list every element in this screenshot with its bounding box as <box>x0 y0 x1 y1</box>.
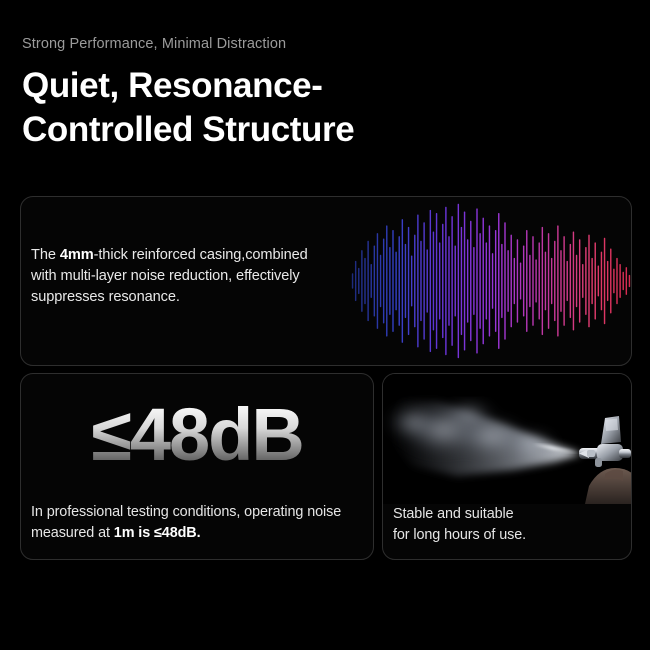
decibel-caption: In professional testing conditions, oper… <box>31 502 365 544</box>
page-title-line-1: Quiet, Resonance- <box>22 66 323 105</box>
promo-page: Strong Performance, Minimal Distraction … <box>0 0 650 650</box>
card-spray: Stable and suitable for long hours of us… <box>382 373 632 560</box>
page-title: Quiet, Resonance- Controlled Structure <box>22 64 622 152</box>
resonance-description: The 4mm-thick reinforced casing,combined… <box>31 245 321 308</box>
description-bold: 4mm <box>60 247 94 263</box>
decibel-value-graphic: ≤48dB <box>21 388 373 488</box>
eyebrow-text: Strong Performance, Minimal Distraction <box>22 36 622 53</box>
page-title-line-2: Controlled Structure <box>22 108 622 152</box>
airbrush-spray-icon <box>383 374 631 504</box>
spray-caption-line-1: Stable and suitable <box>393 504 623 525</box>
spray-caption-line-2: for long hours of use. <box>393 525 623 546</box>
card-resonance: The 4mm-thick reinforced casing,combined… <box>20 196 632 366</box>
card-decibel: ≤48dB In professional testing conditions… <box>20 373 374 560</box>
svg-text:≤48dB: ≤48dB <box>91 394 303 476</box>
description-prefix: The <box>31 247 60 263</box>
decibel-caption-bold: 1m is ≤48dB. <box>114 525 201 541</box>
audio-waveform-icon <box>351 197 631 365</box>
spray-caption: Stable and suitable for long hours of us… <box>393 504 623 546</box>
page-header: Strong Performance, Minimal Distraction … <box>22 36 622 153</box>
